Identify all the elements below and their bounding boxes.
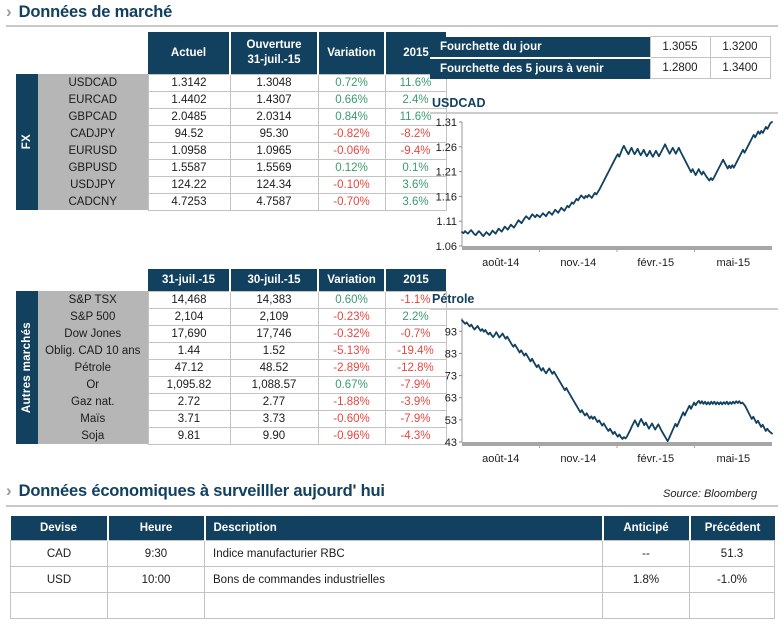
econ-cell-precedent xyxy=(690,593,775,619)
fx-row-label: EURCAD xyxy=(38,91,148,108)
fx-cell-ouverture: 4.7587 xyxy=(230,193,318,210)
econ-cell-devise: USD xyxy=(11,567,108,593)
market-dashboard-page: › Données de marché Actuel Ouverture 31-… xyxy=(0,0,784,630)
other-cell-c2: 9.90 xyxy=(230,427,318,444)
other-cell-c1: 9.81 xyxy=(148,427,230,444)
fourchette-row: Fourchette des 5 jours à venir 1.2800 1.… xyxy=(430,58,770,79)
econ-cell-anticipe xyxy=(603,593,690,619)
table-row: CADJPY 94.52 95.30 -0.82% -8.2% xyxy=(16,125,446,142)
econ-cell-devise xyxy=(11,593,108,619)
fx-cell-variation: -0.70% xyxy=(318,193,385,210)
econ-cell-anticipe: -- xyxy=(603,541,690,567)
other-group-label: Autres marchés xyxy=(16,291,38,444)
svg-text:43: 43 xyxy=(445,437,457,449)
other-cell-variation: -0.23% xyxy=(318,308,385,325)
table-row: Gaz nat. 2.72 2.77 -1.88% -3.9% xyxy=(16,393,446,410)
fx-cell-ouverture: 2.0314 xyxy=(230,108,318,125)
svg-text:93: 93 xyxy=(445,326,457,338)
table-row: EURCAD 1.4402 1.4307 0.66% 2.4% xyxy=(16,91,446,108)
fx-cell-variation: -0.06% xyxy=(318,142,385,159)
other-cell-variation: -0.96% xyxy=(318,427,385,444)
other-cell-variation: 0.60% xyxy=(318,291,385,308)
other-cell-c2: 14,383 xyxy=(230,291,318,308)
fx-table: Actuel Ouverture 31-juil.-15 Variation 2… xyxy=(16,32,447,211)
other-cell-variation: -0.60% xyxy=(318,410,385,427)
table-row: Or 1,095.82 1,088.57 0.67% -7.9% xyxy=(16,376,446,393)
other-header-row: 31-juil.-15 30-juil.-15 Variation 2015 xyxy=(16,269,446,291)
fx-cell-actuel: 1.3142 xyxy=(148,74,230,91)
fx-cell-actuel: 1.5587 xyxy=(148,159,230,176)
table-row: GBPUSD 1.5587 1.5569 0.12% 0.1% xyxy=(16,159,446,176)
svg-text:1.21: 1.21 xyxy=(436,167,457,179)
svg-text:1.06: 1.06 xyxy=(436,241,457,253)
other-cell-variation: -1.88% xyxy=(318,393,385,410)
page-title: Données de marché xyxy=(19,3,172,22)
fx-cell-ouverture: 1.0965 xyxy=(230,142,318,159)
other-row-label: Maïs xyxy=(38,410,148,427)
fourchette-table: Fourchette du jour 1.3055 1.3200 Fourche… xyxy=(430,36,771,79)
fx-row-label: USDJPY xyxy=(38,176,148,193)
other-cell-c2: 48.52 xyxy=(230,359,318,376)
fx-cell-actuel: 94.52 xyxy=(148,125,230,142)
fx-cell-variation: -0.10% xyxy=(318,176,385,193)
table-row xyxy=(11,593,775,619)
other-row-label: Gaz nat. xyxy=(38,393,148,410)
fx-row-label: CADCNY xyxy=(38,193,148,210)
fx-cell-variation: 0.72% xyxy=(318,74,385,91)
table-row: EURUSD 1.0958 1.0965 -0.06% -9.4% xyxy=(16,142,446,159)
table-row: FX USDCAD 1.3142 1.3048 0.72% 11.6% xyxy=(16,74,446,91)
table-row: CAD 9:30 Indice manufacturier RBC -- 51.… xyxy=(11,541,775,567)
fx-cell-ouverture: 95.30 xyxy=(230,125,318,142)
chevron-right-icon: › xyxy=(6,3,12,20)
other-cell-c1: 47.12 xyxy=(148,359,230,376)
other-col-date2: 30-juil.-15 xyxy=(230,269,318,291)
econ-cell-description xyxy=(205,593,603,619)
svg-text:août-14: août-14 xyxy=(482,257,519,269)
svg-text:1.11: 1.11 xyxy=(436,216,457,228)
petrole-chart-block: Pétrole 435363738393août-14nov.-14févr.-… xyxy=(430,292,778,470)
table-row: Oblig. CAD 10 ans 1.44 1.52 -5.13% -19.4… xyxy=(16,342,446,359)
other-corner-blank xyxy=(16,269,38,291)
fx-header-row: Actuel Ouverture 31-juil.-15 Variation 2… xyxy=(16,32,446,74)
other-cell-c1: 1,095.82 xyxy=(148,376,230,393)
fourchette-high: 1.3400 xyxy=(710,58,770,79)
fx-cell-ouverture: 1.3048 xyxy=(230,74,318,91)
fx-cell-variation: 0.84% xyxy=(318,108,385,125)
svg-text:août-14: août-14 xyxy=(482,453,519,465)
fx-cell-ouverture: 1.4307 xyxy=(230,91,318,108)
chevron-right-icon: › xyxy=(6,482,12,499)
source-note: Source: Bloomberg xyxy=(663,488,757,500)
econ-col-heure: Heure xyxy=(108,516,205,541)
table-row: Dow Jones 17,690 17,746 -0.32% -0.7% xyxy=(16,325,446,342)
svg-text:1.31: 1.31 xyxy=(436,117,457,129)
other-cell-c1: 17,690 xyxy=(148,325,230,342)
other-cell-c1: 2.72 xyxy=(148,393,230,410)
fx-cell-actuel: 1.4402 xyxy=(148,91,230,108)
fx-cell-variation: -0.82% xyxy=(318,125,385,142)
econ-col-precedent: Précédent xyxy=(690,516,775,541)
fx-cell-actuel: 1.0958 xyxy=(148,142,230,159)
other-markets-table: 31-juil.-15 30-juil.-15 Variation 2015 A… xyxy=(16,269,447,445)
svg-text:nov.-14: nov.-14 xyxy=(560,257,596,269)
svg-text:févr.-15: févr.-15 xyxy=(637,453,674,465)
other-cell-c2: 1,088.57 xyxy=(230,376,318,393)
svg-text:73: 73 xyxy=(445,371,457,383)
other-cell-c1: 2,104 xyxy=(148,308,230,325)
other-row-label: Pétrole xyxy=(38,359,148,376)
market-section-header: › Données de marché xyxy=(6,3,172,22)
petrole-line-chart: 435363738393août-14nov.-14févr.-15mai-15 xyxy=(430,310,778,470)
table-row: Autres marchés S&P TSX 14,468 14,383 0.6… xyxy=(16,291,446,308)
fx-cell-ouverture: 124.34 xyxy=(230,176,318,193)
fx-row-label: GBPUSD xyxy=(38,159,148,176)
other-cell-variation: 0.67% xyxy=(318,376,385,393)
table-row: Maïs 3.71 3.73 -0.60% -7.9% xyxy=(16,410,446,427)
fx-row-label: GBPCAD xyxy=(38,108,148,125)
usdcad-chart-title: USDCAD xyxy=(432,96,778,110)
econ-cell-devise: CAD xyxy=(11,541,108,567)
other-cell-c2: 3.73 xyxy=(230,410,318,427)
econ-col-description: Description xyxy=(205,516,603,541)
usdcad-line-chart: 1.061.111.161.211.261.31août-14nov.-14fé… xyxy=(430,114,778,274)
svg-text:nov.-14: nov.-14 xyxy=(560,453,596,465)
svg-text:63: 63 xyxy=(445,393,457,405)
other-cell-c2: 1.52 xyxy=(230,342,318,359)
econ-cell-heure: 9:30 xyxy=(108,541,205,567)
other-cell-c1: 1.44 xyxy=(148,342,230,359)
fx-cell-actuel: 4.7253 xyxy=(148,193,230,210)
fx-cell-variation: 0.12% xyxy=(318,159,385,176)
fx-cell-variation: 0.66% xyxy=(318,91,385,108)
other-row-label: Soja xyxy=(38,427,148,444)
econ-cell-description: Bons de commandes industrielles xyxy=(205,567,603,593)
fourchette-low: 1.3055 xyxy=(650,37,710,58)
fourchette-label: Fourchette du jour xyxy=(430,37,650,58)
econ-cell-precedent: -1.0% xyxy=(690,567,775,593)
fx-col-variation: Variation xyxy=(318,32,385,74)
other-row-label: S&P 500 xyxy=(38,308,148,325)
econ-section-header: › Données économiques à surveilller aujo… xyxy=(6,482,385,501)
other-cell-c1: 3.71 xyxy=(148,410,230,427)
other-cell-c2: 2.77 xyxy=(230,393,318,410)
econ-col-anticipe: Anticipé xyxy=(603,516,690,541)
svg-text:1.26: 1.26 xyxy=(436,142,457,154)
other-row-label: Dow Jones xyxy=(38,325,148,342)
fourchette-low: 1.2800 xyxy=(650,58,710,79)
other-cell-variation: -5.13% xyxy=(318,342,385,359)
fx-label-blank xyxy=(38,32,148,74)
fourchette-row: Fourchette du jour 1.3055 1.3200 xyxy=(430,37,770,58)
fx-col-actuel: Actuel xyxy=(148,32,230,74)
table-row: USD 10:00 Bons de commandes industrielle… xyxy=(11,567,775,593)
fourchette-label: Fourchette des 5 jours à venir xyxy=(430,58,650,79)
svg-text:mai-15: mai-15 xyxy=(716,257,750,269)
svg-text:1.16: 1.16 xyxy=(436,191,457,203)
svg-text:83: 83 xyxy=(445,348,457,360)
market-header-divider xyxy=(6,25,778,27)
fourchette-high: 1.3200 xyxy=(710,37,770,58)
other-cell-c1: 14,468 xyxy=(148,291,230,308)
petrole-chart-title: Pétrole xyxy=(432,292,778,306)
other-row-label: S&P TSX xyxy=(38,291,148,308)
other-cell-c2: 17,746 xyxy=(230,325,318,342)
fx-cell-actuel: 124.22 xyxy=(148,176,230,193)
other-col-variation: Variation xyxy=(318,269,385,291)
other-col-date1: 31-juil.-15 xyxy=(148,269,230,291)
fx-col-ouverture: Ouverture 31-juil.-15 xyxy=(230,32,318,74)
econ-cell-precedent: 51.3 xyxy=(690,541,775,567)
table-row: Pétrole 47.12 48.52 -2.89% -12.8% xyxy=(16,359,446,376)
fx-corner-blank xyxy=(16,32,38,74)
svg-text:53: 53 xyxy=(445,415,457,427)
econ-col-devise: Devise xyxy=(11,516,108,541)
econ-cell-heure xyxy=(108,593,205,619)
fx-cell-ouverture: 1.5569 xyxy=(230,159,318,176)
fx-group-label: FX xyxy=(16,74,38,210)
fx-row-label: CADJPY xyxy=(38,125,148,142)
other-row-label: Or xyxy=(38,376,148,393)
econ-header-row: Devise Heure Description Anticipé Précéd… xyxy=(11,516,775,541)
econ-cell-description: Indice manufacturier RBC xyxy=(205,541,603,567)
table-row: USDJPY 124.22 124.34 -0.10% 3.6% xyxy=(16,176,446,193)
econ-title: Données économiques à surveilller aujour… xyxy=(19,482,385,501)
fx-row-label: EURUSD xyxy=(38,142,148,159)
other-cell-variation: -0.32% xyxy=(318,325,385,342)
other-row-label: Oblig. CAD 10 ans xyxy=(38,342,148,359)
econ-cell-heure: 10:00 xyxy=(108,567,205,593)
fx-row-label: USDCAD xyxy=(38,74,148,91)
table-row: Soja 9.81 9.90 -0.96% -4.3% xyxy=(16,427,446,444)
other-label-blank xyxy=(38,269,148,291)
other-cell-c2: 2,109 xyxy=(230,308,318,325)
table-row: CADCNY 4.7253 4.7587 -0.70% 3.6% xyxy=(16,193,446,210)
table-row: GBPCAD 2.0485 2.0314 0.84% 11.6% xyxy=(16,108,446,125)
svg-text:févr.-15: févr.-15 xyxy=(637,257,674,269)
econ-cell-anticipe: 1.8% xyxy=(603,567,690,593)
fx-cell-actuel: 2.0485 xyxy=(148,108,230,125)
econ-calendar-table: Devise Heure Description Anticipé Précéd… xyxy=(10,516,775,619)
other-cell-variation: -2.89% xyxy=(318,359,385,376)
svg-text:mai-15: mai-15 xyxy=(716,453,750,465)
table-row: S&P 500 2,104 2,109 -0.23% 2.2% xyxy=(16,308,446,325)
usdcad-chart-block: USDCAD 1.061.111.161.211.261.31août-14no… xyxy=(430,96,778,274)
econ-header-divider xyxy=(6,505,778,507)
